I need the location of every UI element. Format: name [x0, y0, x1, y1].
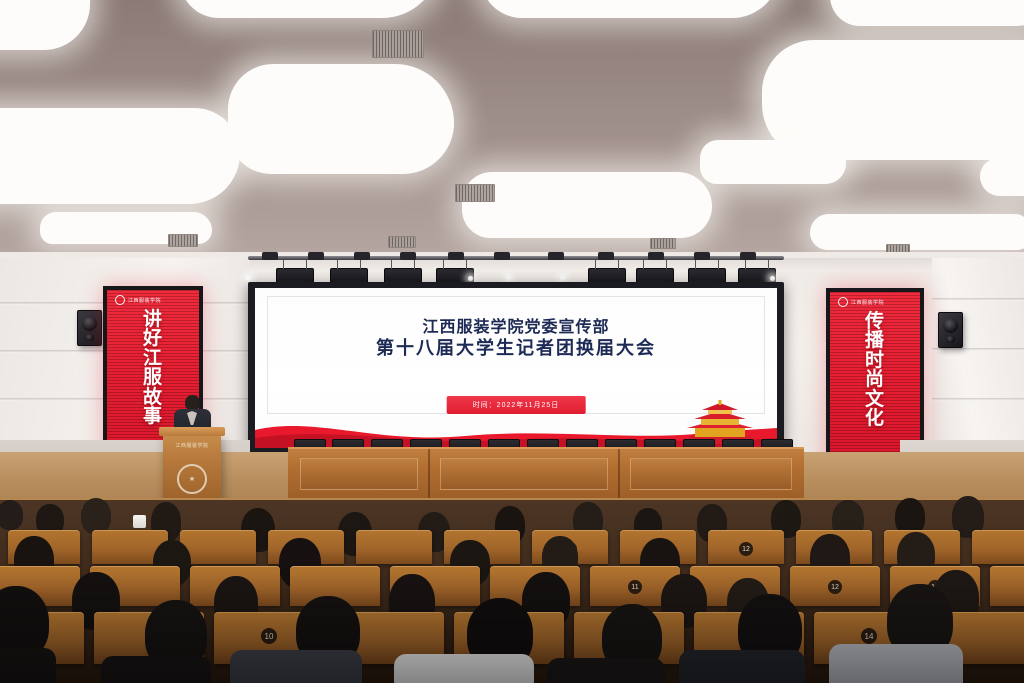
ceiling-light-panel [462, 172, 712, 238]
audience-body [0, 648, 56, 683]
head-table-seam [618, 449, 620, 501]
wall-groove [932, 398, 1024, 401]
podium-emblem-icon: ★ [177, 464, 207, 494]
school-logo-right: 江西服装学院 [838, 297, 884, 307]
audience-body [679, 650, 805, 683]
audience-head [81, 498, 111, 534]
led-right-char-5: 化 [865, 409, 885, 428]
seat[interactable] [356, 530, 432, 564]
projection-screen: 江西服装学院党委宣传部 第十八届大学生记者团换届大会 时间：2022年11月25… [255, 288, 777, 448]
air-vent [372, 30, 424, 58]
ceiling-downlight [246, 276, 251, 281]
truss-clamp [598, 252, 614, 260]
truss-clamp [494, 252, 510, 260]
led-left-char-5: 事 [143, 407, 163, 426]
ceiling-light-panel [700, 140, 846, 184]
wall-groove [932, 298, 1024, 301]
ceiling-downlight [468, 276, 473, 281]
led-right-char-1: 播 [865, 331, 885, 350]
ceiling-downlight [506, 276, 511, 281]
seat-number: 10 [261, 628, 277, 644]
podium-label: 江西服装学院 [175, 442, 208, 449]
slide-date-badge: 时间：2022年11月25日 [447, 396, 586, 414]
audience-body [101, 656, 211, 683]
led-left-char-3: 服 [143, 368, 163, 387]
audience-body [394, 654, 534, 683]
slide-title: 江西服装学院党委宣传部 第十八届大学生记者团换届大会 [255, 318, 777, 359]
air-vent [168, 234, 198, 247]
led-left-char-0: 讲 [143, 310, 163, 329]
seat[interactable] [180, 530, 256, 564]
seat[interactable]: 12 [790, 566, 880, 606]
audience-body [547, 658, 665, 683]
led-left-char-1: 好 [143, 329, 163, 348]
led-right-char-0: 传 [865, 312, 885, 331]
slide-title-line1: 江西服装学院党委宣传部 [255, 318, 777, 338]
head-table-panel [440, 458, 608, 490]
head-table-panel [300, 458, 418, 490]
podium-top [159, 427, 225, 436]
led-right-char-2: 时 [865, 351, 885, 370]
head-table-panel [630, 458, 792, 490]
truss-clamp [448, 252, 464, 260]
school-logo-text: 江西服装学院 [851, 299, 884, 306]
school-logo-mark-icon [115, 295, 125, 305]
ceiling-light-panel [810, 214, 1024, 250]
truss-clamp [648, 252, 664, 260]
truss-clamp [400, 252, 416, 260]
ceiling-light-panel [830, 0, 1024, 26]
air-vent [455, 184, 495, 202]
air-vent [650, 238, 676, 249]
truss-clamp [262, 252, 278, 260]
ceiling-light-panel [0, 108, 240, 204]
auditorium-photo: 江西服装学院 讲 好 江 服 故 事 江西服装学院 传 播 时 尚 文 化 [0, 0, 1024, 683]
led-left-char-4: 故 [143, 388, 163, 407]
ceiling-light-panel [480, 0, 780, 18]
truss-clamp [694, 252, 710, 260]
audience-body [230, 650, 362, 683]
ceiling-light-panel [228, 64, 454, 174]
wall-groove [932, 348, 1024, 351]
truss-clamp [354, 252, 370, 260]
ceiling-light-panel [980, 158, 1024, 196]
projection-screen-frame: 江西服装学院党委宣传部 第十八届大学生记者团换届大会 时间：2022年11月25… [248, 282, 784, 454]
seat[interactable] [990, 566, 1024, 606]
seat-number: 12 [828, 580, 842, 594]
ceiling [0, 0, 1024, 262]
seat-number: 12 [739, 542, 753, 556]
seat[interactable] [972, 530, 1024, 564]
seat-number: 11 [628, 580, 642, 594]
truss-clamp [740, 252, 756, 260]
seat-number: 14 [861, 628, 877, 644]
pagoda-illustration-icon [681, 400, 759, 444]
audience-head [0, 500, 23, 530]
school-logo-text: 江西服装学院 [128, 297, 161, 304]
ceiling-light-panel [0, 0, 90, 50]
seat[interactable]: 12 [708, 530, 784, 564]
head-table [288, 447, 804, 501]
truss-clamp [548, 252, 564, 260]
ceiling-light-panel [180, 0, 440, 18]
wall-speaker-left [77, 310, 102, 346]
mug [133, 515, 146, 528]
led-left-char-2: 江 [143, 349, 163, 368]
led-right-vertical-text: 传 播 时 尚 文 化 [830, 312, 920, 428]
air-vent [388, 236, 416, 248]
school-logo-mark-icon [838, 297, 848, 307]
audience-body [829, 644, 963, 683]
slide-title-line2: 第十八届大学生记者团换届大会 [255, 338, 777, 360]
truss-clamp [308, 252, 324, 260]
podium: 江西服装学院 ★ [163, 434, 221, 506]
led-right-char-3: 尚 [865, 370, 885, 389]
school-logo-left: 江西服装学院 [115, 295, 161, 305]
wall-speaker-right [938, 312, 963, 348]
ceiling-downlight [770, 276, 775, 281]
head-table-seam [428, 449, 430, 501]
led-right-char-4: 文 [865, 390, 885, 409]
ceiling-downlight [560, 276, 565, 281]
